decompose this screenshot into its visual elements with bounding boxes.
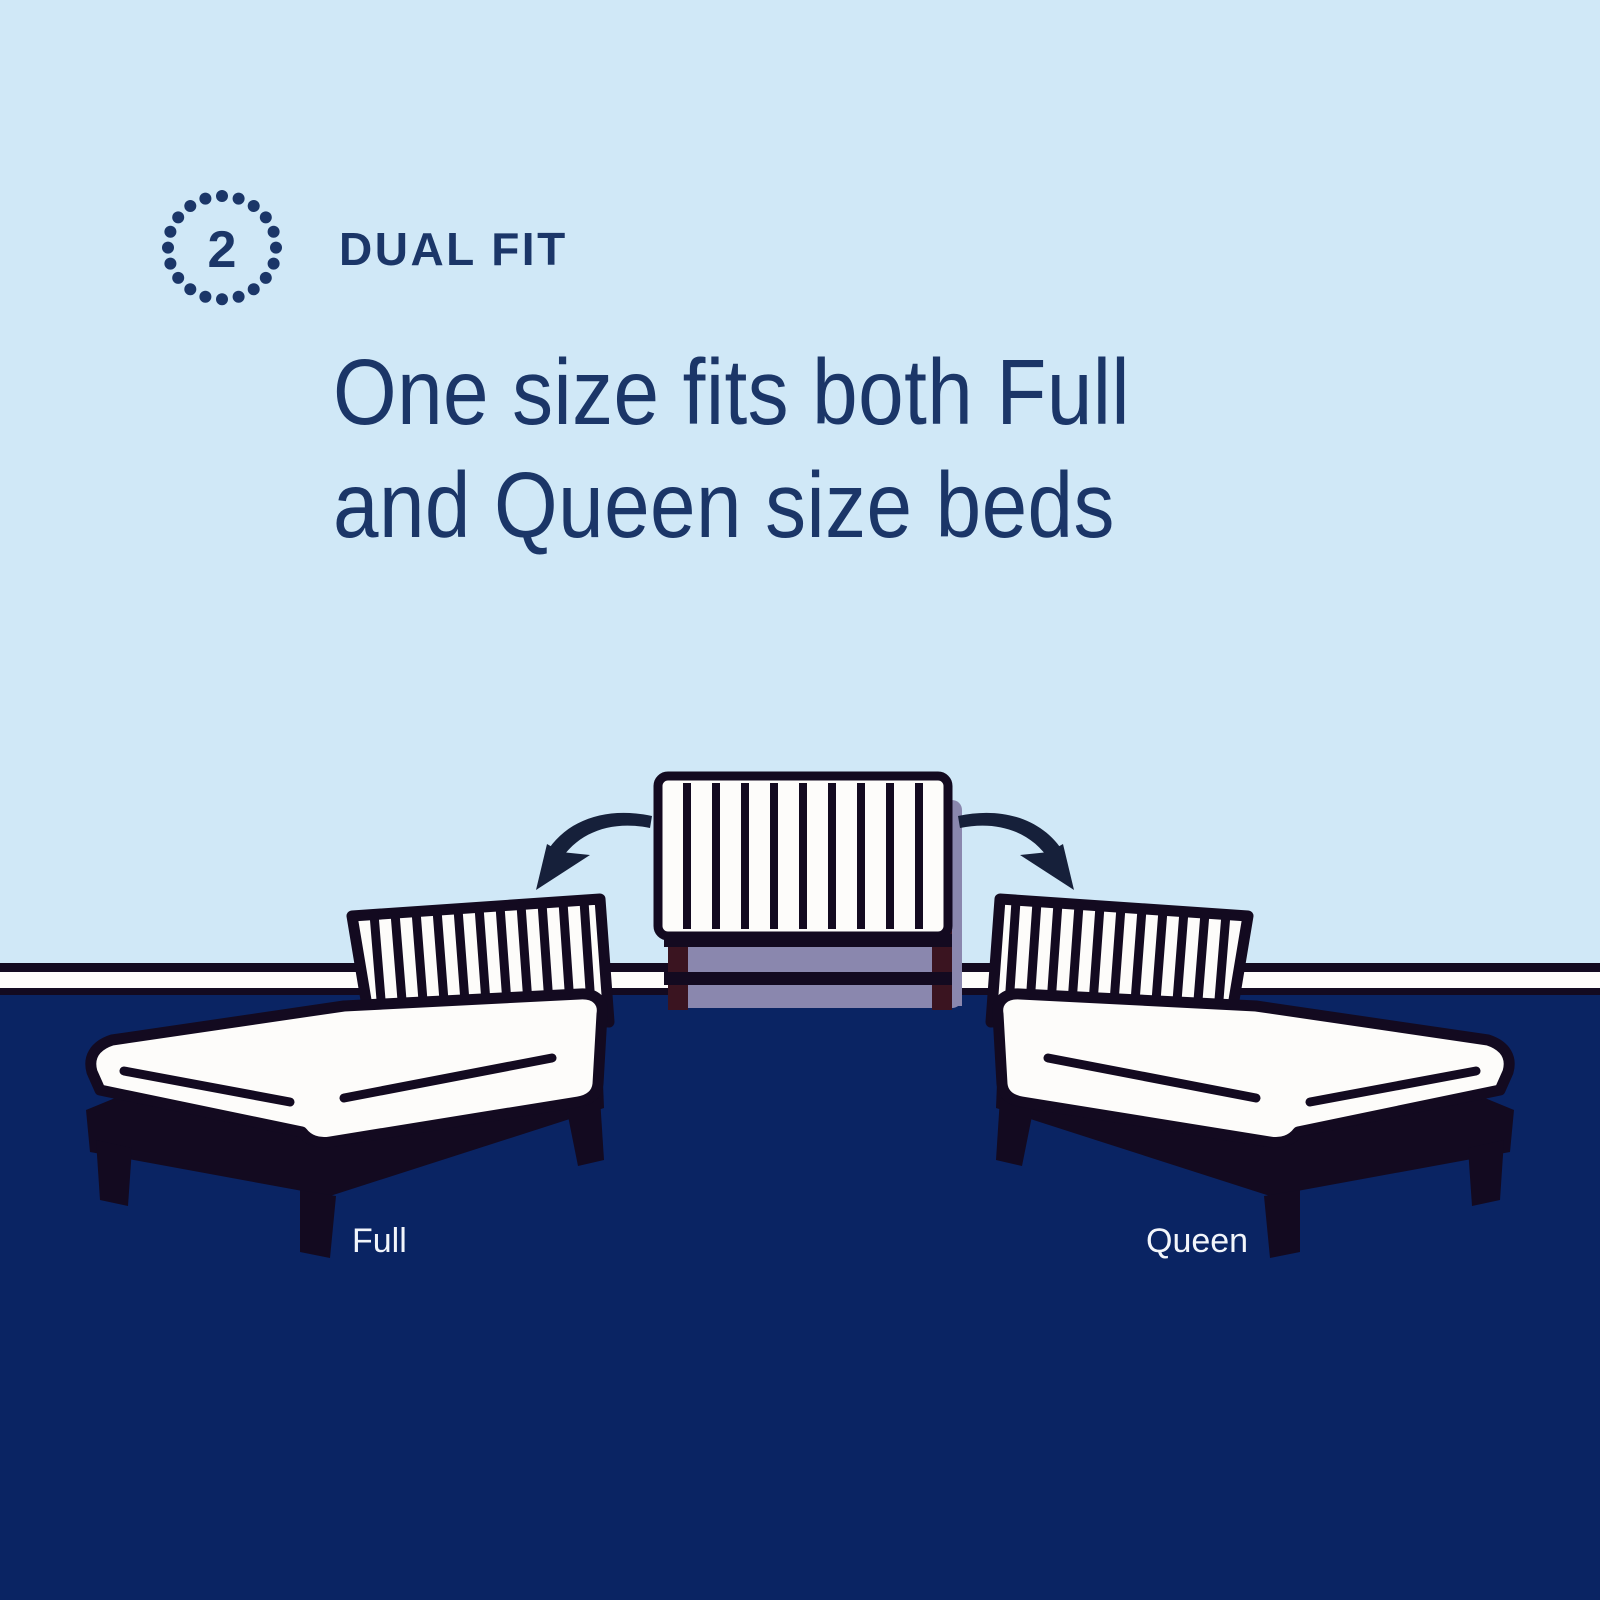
step-eyebrow-label: DUAL FIT xyxy=(339,222,568,276)
step-badge: 2 xyxy=(160,188,284,312)
full-bed xyxy=(86,899,609,1258)
center-headboard-panel xyxy=(658,776,948,936)
queen-bed xyxy=(991,899,1514,1258)
arrow-to-queen xyxy=(958,813,1074,890)
page-headline: One size fits both Full and Queen size b… xyxy=(333,336,1257,563)
infographic-canvas: 2 DUAL FIT One size fits both Full and Q… xyxy=(0,0,1600,1600)
step-number: 2 xyxy=(160,188,284,312)
arrow-to-full xyxy=(536,813,652,890)
caption-queen: Queen xyxy=(1146,1222,1248,1261)
caption-full: Full xyxy=(352,1222,407,1261)
